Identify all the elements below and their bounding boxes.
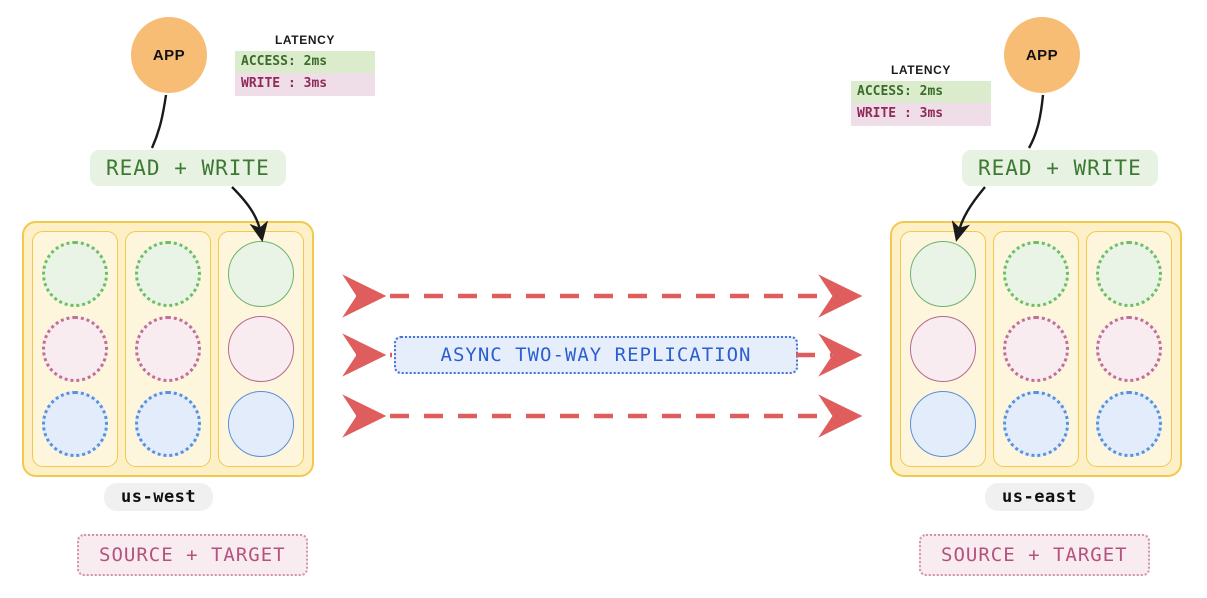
latency-title-left: LATENCY [235, 33, 375, 47]
shard-primary-west[interactable] [218, 231, 304, 467]
node-replica-blue[interactable] [135, 391, 201, 457]
app-node-right[interactable]: APP [1004, 17, 1080, 93]
region-pill-us-west: us-west [104, 483, 213, 511]
node-replica-pink[interactable] [1003, 316, 1069, 382]
node-primary-green[interactable] [910, 241, 976, 307]
node-replica-pink[interactable] [42, 316, 108, 382]
connector-app-to-readwrite-right [1029, 95, 1043, 148]
latency-write-left: WRITE : 3ms [235, 73, 375, 95]
source-target-badge-right: SOURCE + TARGET [919, 534, 1150, 576]
node-replica-green[interactable] [135, 241, 201, 307]
node-replica-green[interactable] [42, 241, 108, 307]
node-replica-green[interactable] [1003, 241, 1069, 307]
latency-access-right: ACCESS: 2ms [851, 81, 991, 103]
node-replica-blue[interactable] [1003, 391, 1069, 457]
node-primary-pink[interactable] [228, 316, 294, 382]
latency-title-right: LATENCY [851, 63, 991, 77]
connector-app-to-readwrite-left [152, 95, 166, 148]
shard-primary-east[interactable] [900, 231, 986, 467]
cluster-us-west[interactable] [22, 221, 314, 477]
app-label-left: APP [153, 47, 185, 64]
source-target-badge-left: SOURCE + TARGET [77, 534, 308, 576]
latency-card-left: LATENCY ACCESS: 2ms WRITE : 3ms [235, 33, 375, 96]
read-write-label-left: READ + WRITE [90, 150, 286, 186]
replication-label: ASYNC TWO-WAY REPLICATION [394, 336, 798, 374]
shard-replica-1-west[interactable] [32, 231, 118, 467]
node-replica-blue[interactable] [42, 391, 108, 457]
node-primary-blue[interactable] [910, 391, 976, 457]
node-primary-blue[interactable] [228, 391, 294, 457]
latency-access-left: ACCESS: 2ms [235, 51, 375, 73]
latency-write-right: WRITE : 3ms [851, 103, 991, 125]
app-label-right: APP [1026, 47, 1058, 64]
node-replica-pink[interactable] [1096, 316, 1162, 382]
node-replica-blue[interactable] [1096, 391, 1162, 457]
diagram-canvas: APP LATENCY ACCESS: 2ms WRITE : 3ms READ… [0, 0, 1207, 598]
shard-replica-2-east[interactable] [1086, 231, 1172, 467]
node-primary-green[interactable] [228, 241, 294, 307]
app-node-left[interactable]: APP [131, 17, 207, 93]
read-write-label-right: READ + WRITE [962, 150, 1158, 186]
node-primary-pink[interactable] [910, 316, 976, 382]
node-replica-green[interactable] [1096, 241, 1162, 307]
region-pill-us-east: us-east [985, 483, 1094, 511]
shard-replica-2-west[interactable] [125, 231, 211, 467]
latency-card-right: LATENCY ACCESS: 2ms WRITE : 3ms [851, 63, 991, 126]
cluster-us-east[interactable] [890, 221, 1182, 477]
node-replica-pink[interactable] [135, 316, 201, 382]
shard-replica-1-east[interactable] [993, 231, 1079, 467]
